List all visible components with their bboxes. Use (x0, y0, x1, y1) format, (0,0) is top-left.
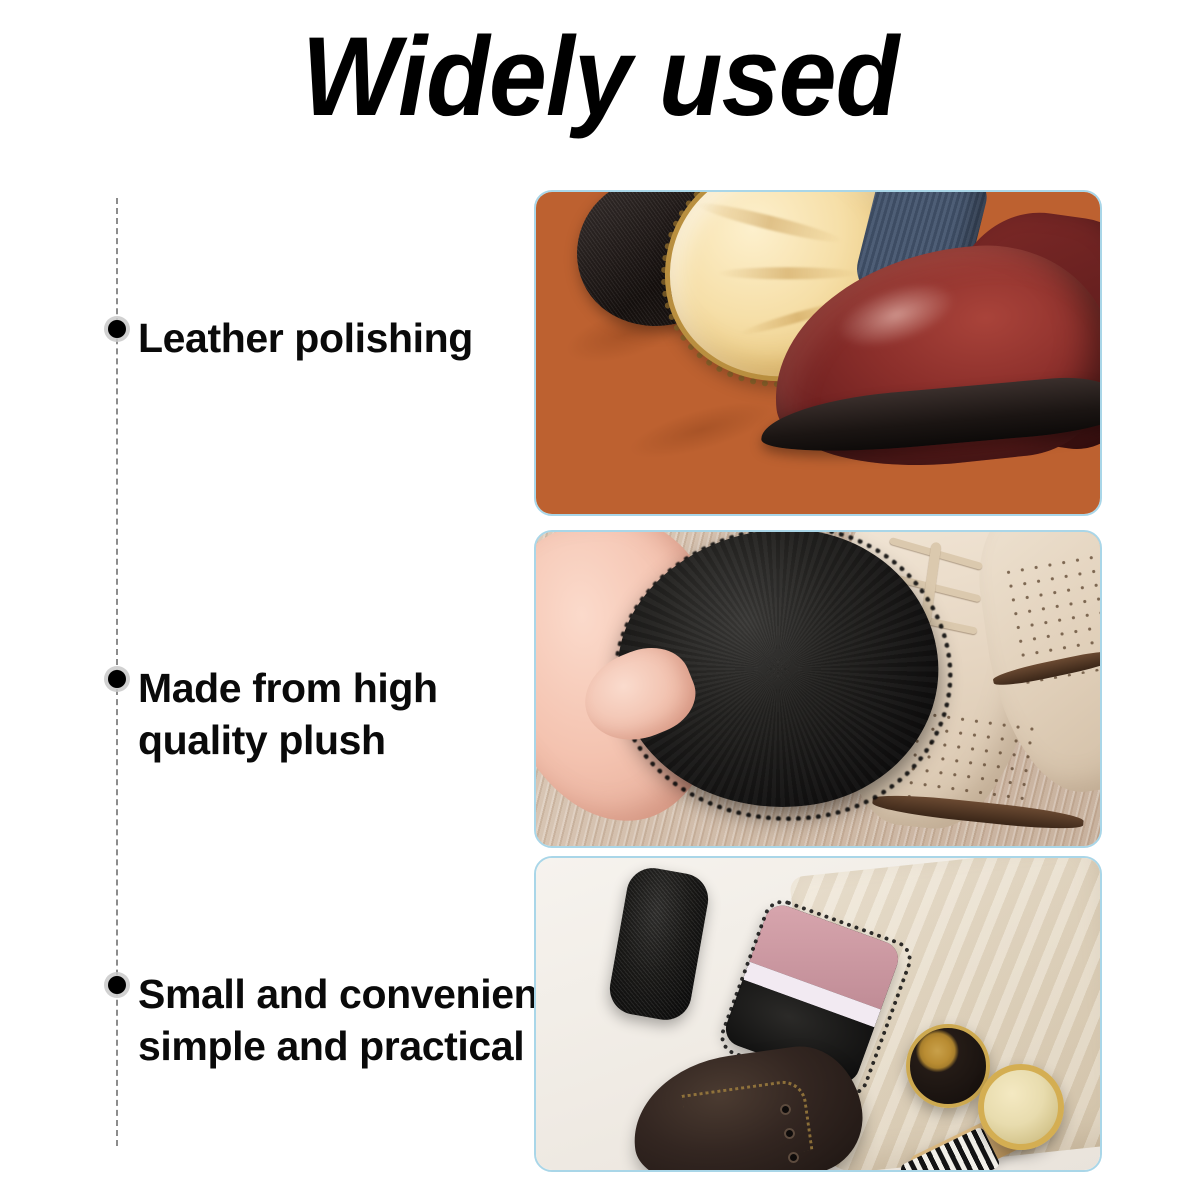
shoe-eyelet (788, 1152, 799, 1163)
bullet-dot-icon (104, 666, 130, 692)
feature-item-high-quality-plush: Made from high quality plush (104, 662, 438, 766)
pad-crease (695, 198, 844, 248)
page-title: Widely used (42, 18, 1158, 136)
photo-leather-polishing (534, 190, 1102, 516)
bullet-dot-icon (104, 316, 130, 342)
bullet-core (108, 670, 126, 688)
photo-shoe-care-kit-flatlay (534, 856, 1102, 1172)
bullet-dot-icon (104, 972, 130, 998)
dark-polish-tin (906, 1024, 990, 1108)
cream-polish-tin (978, 1064, 1064, 1150)
photo-plush-pad-in-hand (534, 530, 1102, 848)
feature-item-leather-polishing: Leather polishing (104, 312, 473, 364)
infographic-page: Widely used Leather polishing Made from … (0, 0, 1200, 1200)
feature-label: Small and convenient simple and practica… (138, 968, 552, 1072)
feature-label: Made from high quality plush (138, 662, 438, 766)
feature-label: Leather polishing (138, 312, 473, 364)
bullet-core (108, 976, 126, 994)
feature-item-small-and-convenient: Small and convenient simple and practica… (104, 968, 552, 1072)
pad-crease (718, 267, 858, 279)
bullet-core (108, 320, 126, 338)
shoe-eyelet (780, 1104, 791, 1115)
shoe-eyelet (784, 1128, 795, 1139)
